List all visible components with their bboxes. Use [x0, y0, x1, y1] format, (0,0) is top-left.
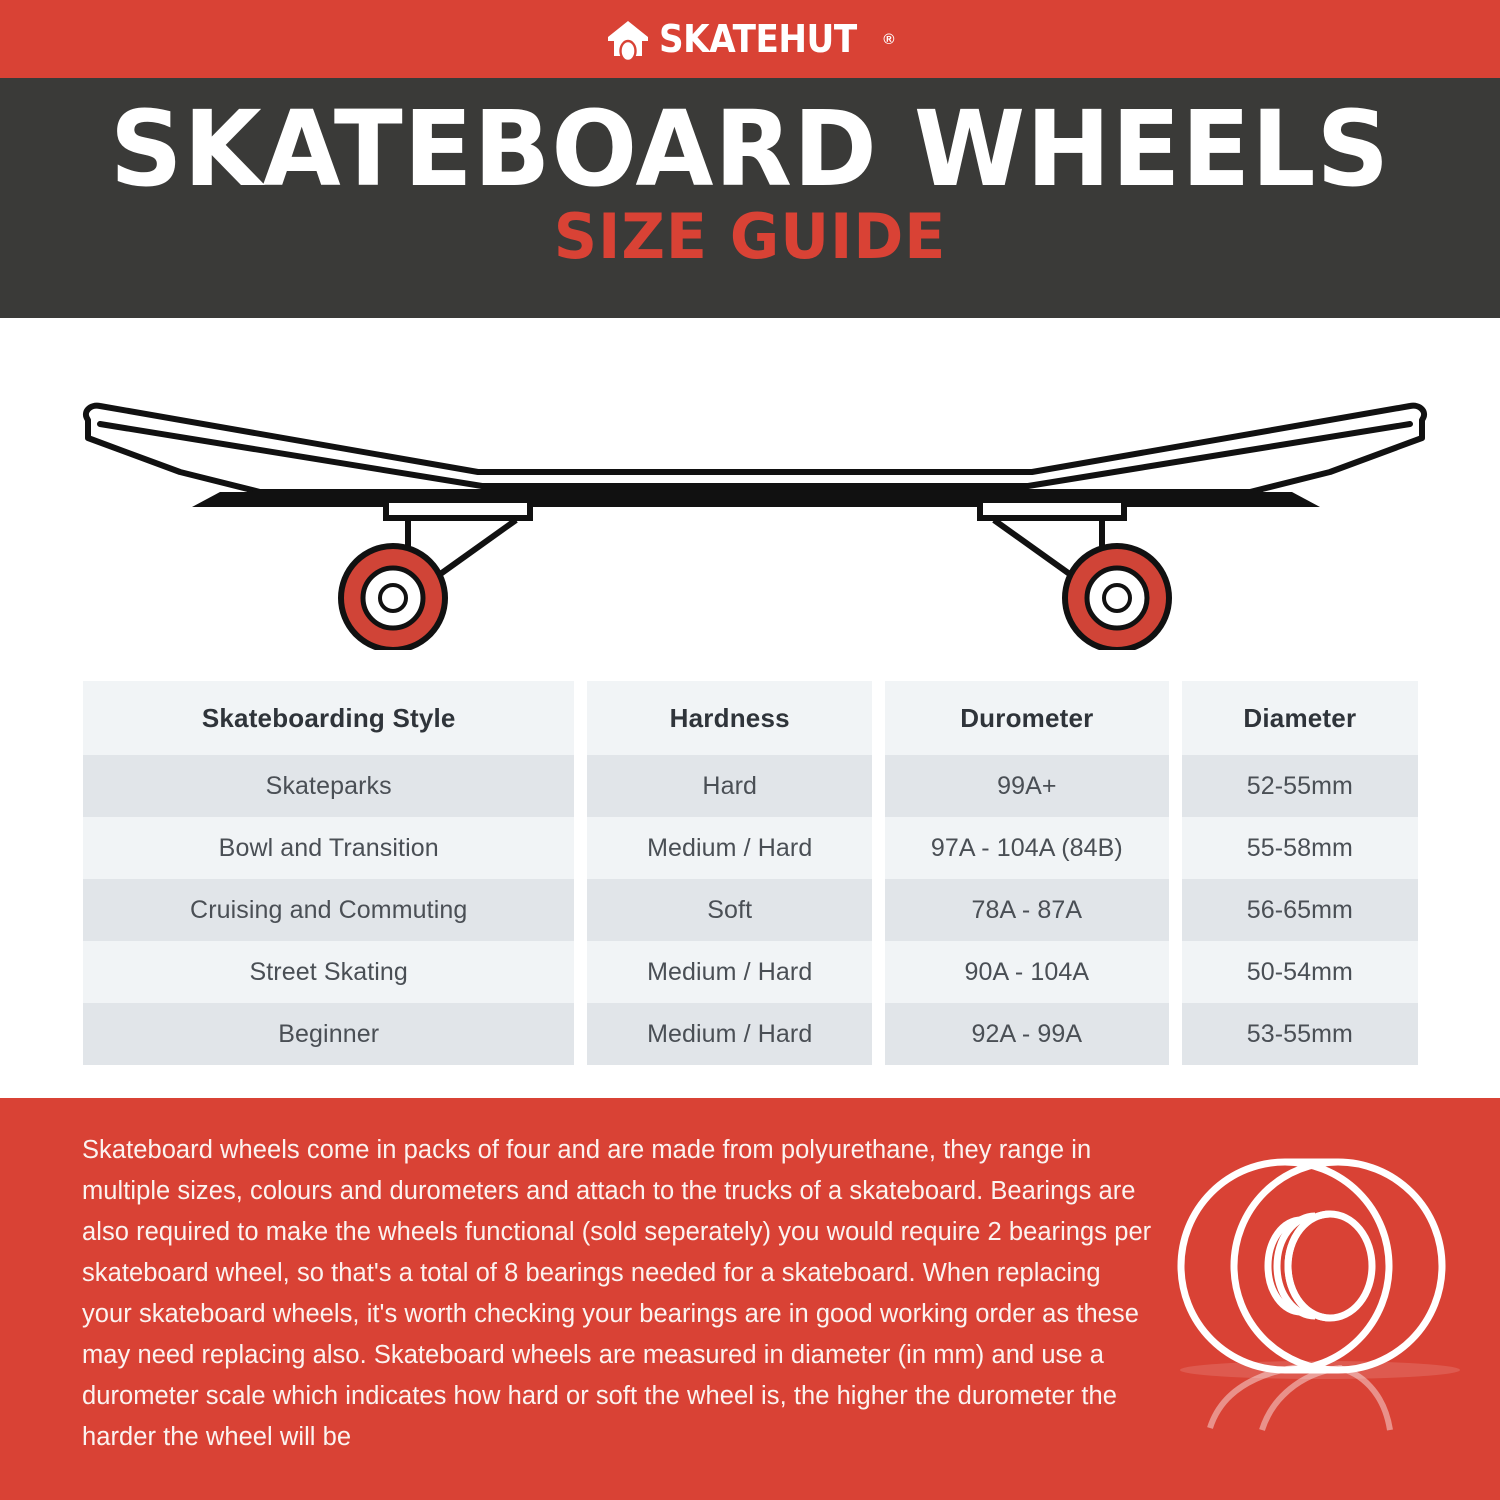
table-row: Cruising and Commuting Soft 78A - 87A 56…: [83, 879, 1418, 941]
wheel-right: [1065, 546, 1169, 650]
cell-style: Bowl and Transition: [83, 817, 574, 879]
brand-bar: SKATEHUT ®: [0, 0, 1500, 78]
title-band: SKATEBOARD WHEELS SIZE GUIDE: [0, 78, 1500, 318]
cell-durometer: 97A - 104A (84B): [885, 817, 1169, 879]
brand-logo[interactable]: SKATEHUT ®: [606, 18, 895, 60]
cell-diameter: 55-58mm: [1182, 817, 1418, 879]
page-title: SKATEBOARD WHEELS: [23, 96, 1478, 202]
cell-durometer: 92A - 99A: [885, 1003, 1169, 1065]
cell-hardness: Medium / Hard: [587, 941, 872, 1003]
cell-hardness: Medium / Hard: [587, 817, 872, 879]
table-row: Street Skating Medium / Hard 90A - 104A …: [83, 941, 1418, 1003]
column-header-hardness: Hardness: [587, 681, 872, 755]
column-header-style: Skateboarding Style: [83, 681, 574, 755]
cell-hardness: Medium / Hard: [587, 1003, 872, 1065]
wheel-size-table: Skateboarding Style Hardness Durometer D…: [83, 681, 1418, 1065]
cell-durometer: 99A+: [885, 755, 1169, 817]
cell-style: Skateparks: [83, 755, 574, 817]
cell-diameter: 53-55mm: [1182, 1003, 1418, 1065]
wheel-left: [341, 546, 445, 650]
cell-style: Street Skating: [83, 941, 574, 1003]
skateboard-side-view-illustration: [70, 380, 1440, 650]
cell-style: Cruising and Commuting: [83, 879, 574, 941]
column-header-durometer: Durometer: [885, 681, 1169, 755]
cell-diameter: 52-55mm: [1182, 755, 1418, 817]
trademark-symbol: ®: [883, 31, 894, 48]
infographic-page: SKATEHUT ® SKATEBOARD WHEELS SIZE GUIDE: [0, 0, 1500, 1500]
cell-durometer: 78A - 87A: [885, 879, 1169, 941]
brand-name: SKATEHUT: [659, 20, 857, 58]
cell-style: Beginner: [83, 1003, 574, 1065]
cell-hardness: Soft: [587, 879, 872, 941]
table-row: Skateparks Hard 99A+ 52-55mm: [83, 755, 1418, 817]
table-row: Bowl and Transition Medium / Hard 97A - …: [83, 817, 1418, 879]
footer-panel: Skateboard wheels come in packs of four …: [0, 1098, 1500, 1500]
skateboard-wheel-icon: [1170, 1148, 1490, 1448]
table-row: Beginner Medium / Hard 92A - 99A 53-55mm: [83, 1003, 1418, 1065]
column-header-diameter: Diameter: [1182, 681, 1418, 755]
cell-hardness: Hard: [587, 755, 872, 817]
cell-diameter: 50-54mm: [1182, 941, 1418, 1003]
skatehut-hut-logo-icon: [606, 18, 650, 60]
cell-diameter: 56-65mm: [1182, 879, 1418, 941]
table-header-row: Skateboarding Style Hardness Durometer D…: [83, 681, 1418, 755]
footer-description: Skateboard wheels come in packs of four …: [82, 1130, 1157, 1458]
cell-durometer: 90A - 104A: [885, 941, 1169, 1003]
page-subtitle: SIZE GUIDE: [23, 204, 1478, 269]
